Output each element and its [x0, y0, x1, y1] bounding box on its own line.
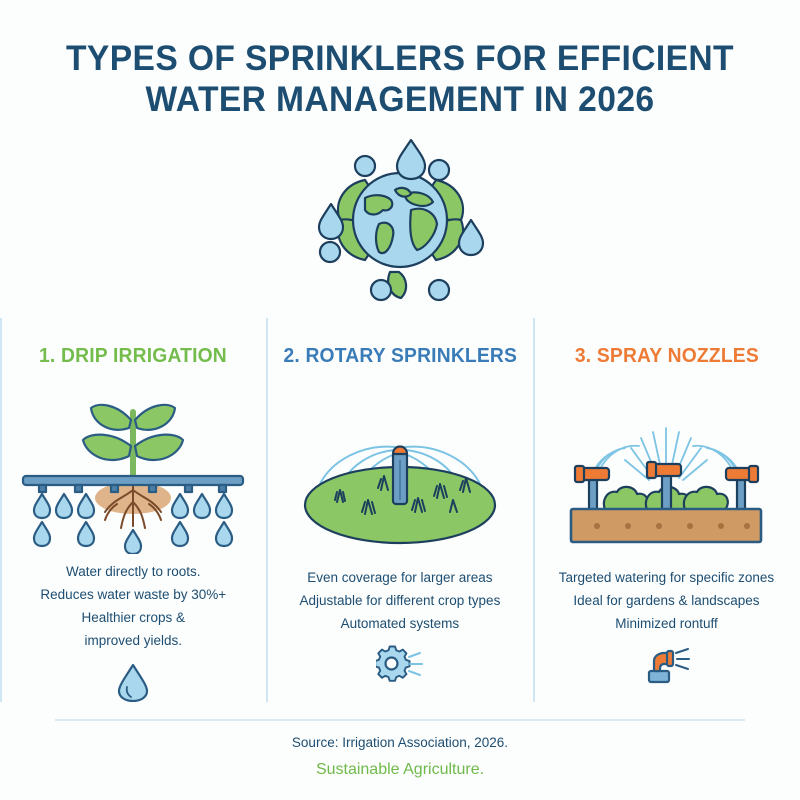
spray-nozzle-icon [641, 645, 691, 685]
column-spray-nozzles: 3. SPRAY NOZZLES [533, 318, 800, 702]
footer: Source: Irrigation Association, 2026. Su… [0, 730, 800, 784]
column-icon-1 [116, 662, 150, 702]
gear-icon [376, 645, 424, 685]
column-bullets-1: Water directly to roots. Reduces water w… [40, 560, 226, 652]
bullet-item: Water directly to roots. [40, 560, 226, 583]
infographic-page: TYPES OF SPRINKLERS FOR EFFICIENT WATER … [0, 0, 800, 800]
drip-irrigation-illustration [13, 392, 253, 556]
bullet-item: Ideal for gardens & landscapes [559, 589, 774, 612]
column-heading-2: 2. ROTARY SPRINKLERS [283, 344, 517, 368]
bullet-item: Automated systems [299, 612, 500, 635]
water-drop-icon [116, 662, 150, 702]
column-icon-3 [641, 645, 691, 685]
column-heading-1: 1. DRIP IRRIGATION [39, 344, 227, 368]
spray-nozzle-illustration [549, 392, 784, 562]
column-drip-irrigation: 1. DRIP IRRIGATION [0, 318, 267, 702]
footer-tagline: Sustainable Agriculture. [0, 756, 800, 784]
column-icon-2 [376, 645, 424, 685]
hero-illustration [0, 132, 800, 307]
bullet-item: Minimized rontuff [559, 612, 774, 635]
column-bullets-2: Even coverage for larger areas Adjustabl… [299, 566, 500, 635]
rotary-sprinkler-illustration [285, 392, 515, 562]
title-line-2: WATER MANAGEMENT IN 2026 [16, 79, 784, 120]
column-heading-3: 3. SPRAY NOZZLES [574, 344, 758, 368]
globe-with-leaves-and-water-drops-icon [293, 132, 508, 307]
bullet-item: Targeted watering for specific zones [559, 566, 774, 589]
columns-section: 1. DRIP IRRIGATION [0, 318, 800, 702]
bullet-item: Reduces water waste by 30%+ [40, 583, 226, 606]
bullet-item: Adjustable for different crop types [299, 589, 500, 612]
page-title: TYPES OF SPRINKLERS FOR EFFICIENT WATER … [0, 0, 800, 120]
footer-source: Source: Irrigation Association, 2026. [0, 730, 800, 756]
bullet-item: Even coverage for larger areas [299, 566, 500, 589]
column-bullets-3: Targeted watering for specific zones Ide… [559, 566, 774, 635]
title-line-1: TYPES OF SPRINKLERS FOR EFFICIENT [16, 38, 784, 79]
bullet-item: Healthier crops & improved yields. [58, 606, 208, 652]
column-rotary-sprinklers: 2. ROTARY SPRINKLERS [267, 318, 534, 702]
footer-divider [55, 719, 745, 721]
